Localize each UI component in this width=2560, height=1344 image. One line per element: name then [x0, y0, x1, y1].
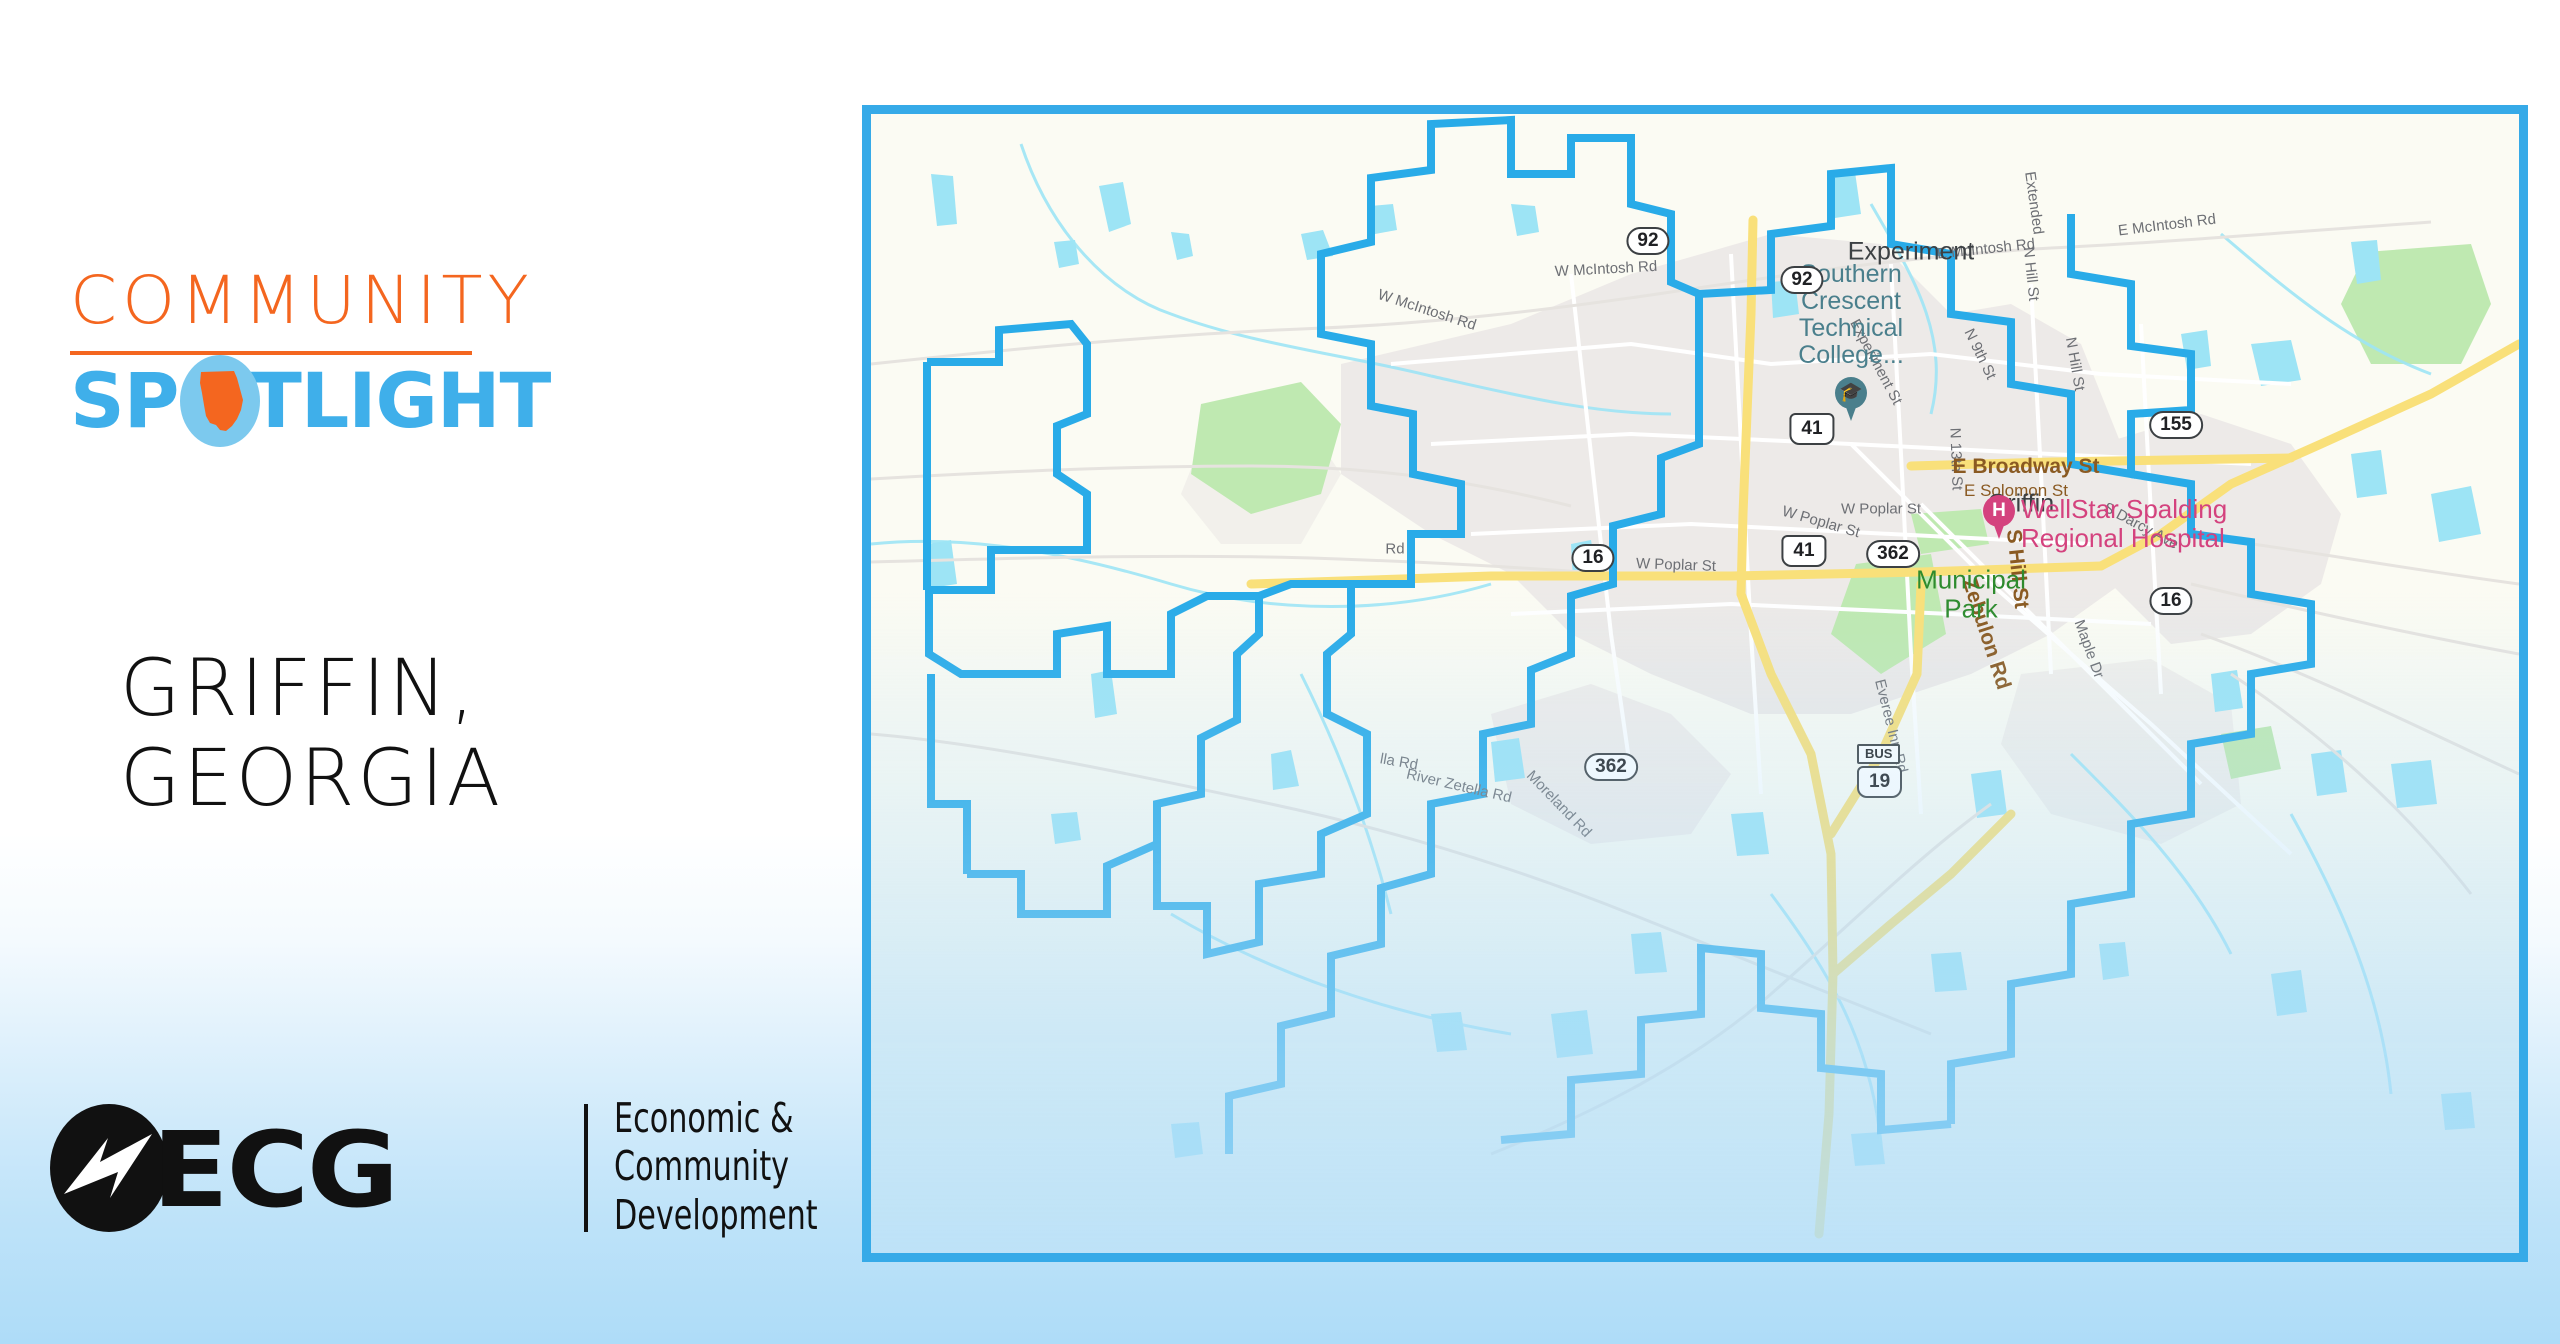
map-road-label: Rd: [1385, 541, 1404, 558]
page-title: GRIFFIN, GEORGIA: [120, 644, 740, 825]
city-line-2: GEORGIA: [120, 734, 740, 824]
georgia-outline-svg: [196, 369, 246, 433]
georgia-state-shape-icon: [180, 355, 260, 447]
city-line-1: GRIFFIN,: [120, 644, 740, 734]
shield-banner: BUS: [1857, 744, 1900, 764]
brand-spotlight-prefix: SP: [70, 363, 178, 439]
highway-shield: BUS19: [1857, 744, 1902, 798]
ecg-tagline-line-2: Community: [614, 1142, 860, 1190]
ecg-logo: ECG Economic & Community Development: [48, 1096, 828, 1256]
highway-shield: 362: [1866, 540, 1920, 568]
highway-shield: 92: [1626, 227, 1669, 255]
map-park-label: Municipal Park: [1896, 565, 2046, 622]
map-road-label: E Broadway St: [1952, 455, 2099, 479]
highway-shield: 155: [2149, 411, 2203, 439]
highway-shield: 16: [2149, 587, 2192, 615]
brand-word-community: COMMUNITY: [70, 268, 478, 334]
shield-number: 19: [1857, 766, 1902, 798]
ecg-tagline-line-1: Economic &: [614, 1094, 860, 1142]
map-canvas[interactable]: [871, 114, 2519, 1253]
map-road-label: W Poplar St: [1636, 555, 1717, 575]
highway-shield: 92: [1780, 266, 1823, 294]
ecg-tagline-line-3: Development: [614, 1191, 860, 1239]
map-vector-layer: [871, 114, 2519, 1253]
brand-word-spotlight: SP TLIGHT: [70, 363, 482, 455]
map-road-label: W Poplar St: [1841, 501, 1921, 518]
ecg-tagline: Economic & Community Development: [614, 1094, 860, 1239]
graduation-cap-icon[interactable]: 🎓: [1835, 377, 1867, 421]
ecg-wordmark: ECG: [152, 1118, 397, 1222]
highway-shield: 41: [1789, 413, 1834, 445]
map-panel[interactable]: W McIntosh RdW McIntosh RdE McIntosh RdE…: [862, 105, 2528, 1262]
left-panel: COMMUNITY SP TLIGHT GRIFFIN, GEORGIA ECG…: [0, 0, 862, 1344]
hospital-h-icon[interactable]: H: [1983, 495, 2015, 539]
ecg-divider: [584, 1104, 588, 1232]
pin-glyph: 🎓: [1835, 377, 1867, 409]
brand-spotlight-suffix: TLIGHT: [250, 363, 550, 439]
pin-glyph: H: [1983, 495, 2015, 527]
highway-shield: 41: [1781, 535, 1826, 567]
map-poi-label: WellStar Spalding Regional Hospital: [2021, 495, 2251, 552]
highway-shield: 362: [1584, 753, 1638, 781]
community-spotlight-logo: COMMUNITY SP TLIGHT: [70, 268, 470, 455]
brand-divider-rule: [70, 351, 472, 355]
highway-shield: 16: [1571, 544, 1614, 572]
